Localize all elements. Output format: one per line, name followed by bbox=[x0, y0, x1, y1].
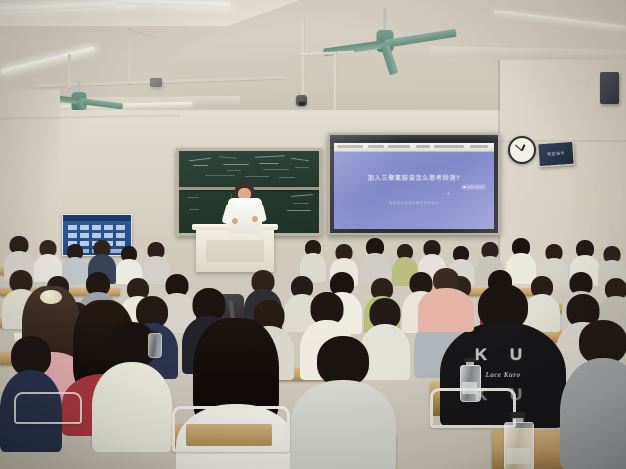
bottle-label-front bbox=[506, 448, 530, 464]
lecturer-hand-right bbox=[252, 216, 258, 222]
wall-clock bbox=[508, 136, 536, 164]
water-bottle-front bbox=[504, 412, 532, 469]
room-plaque-text: 教室编号 bbox=[547, 150, 565, 157]
slide-cursor-icon: + bbox=[446, 192, 450, 198]
water-bottle-far bbox=[148, 330, 160, 356]
student-grey-tee bbox=[290, 336, 396, 469]
screen-roller-bar bbox=[330, 135, 498, 142]
ceiling-camera-icon bbox=[296, 95, 307, 106]
app-toolbar bbox=[334, 143, 494, 152]
hair-scrunchie bbox=[40, 290, 62, 304]
podium-front-panel bbox=[206, 240, 264, 262]
lecturer-hand-left bbox=[232, 218, 238, 224]
student-right-pink bbox=[418, 268, 474, 328]
chair-frame-left bbox=[14, 392, 82, 424]
slide-surface: 加入三聚氰胺该怎么思考检测? 如何设计检测方案与实验验证 检测方案示例 + bbox=[334, 152, 494, 229]
slide-subtitle: 如何设计检测方案与实验验证 bbox=[389, 200, 440, 205]
slide-title: 加入三聚氰胺该怎么思考检测? bbox=[368, 173, 460, 182]
wall-speaker-left bbox=[150, 78, 162, 87]
ceiling-fan-center bbox=[310, 8, 460, 58]
slide-badge: 检测方案示例 bbox=[461, 184, 486, 190]
camera-mount-pole-2 bbox=[334, 52, 337, 114]
wall-speaker-right bbox=[600, 72, 619, 104]
student-far-5 bbox=[116, 246, 142, 282]
water-bottle-mid bbox=[460, 358, 479, 400]
projection-screen: 加入三聚氰胺该怎么思考检测? 如何设计检测方案与实验验证 检测方案示例 + bbox=[328, 133, 500, 235]
room-plaque: 教室编号 bbox=[537, 141, 575, 167]
classroom-photo-scene: 教室编号 bbox=[0, 0, 626, 469]
lecturer bbox=[222, 182, 268, 234]
slide-badge-dot bbox=[463, 186, 466, 189]
bottle-body-far bbox=[148, 333, 162, 358]
student-far-9 bbox=[360, 238, 390, 282]
conduit-pipe-drop-2 bbox=[128, 32, 131, 84]
slide-badge-text: 检测方案示例 bbox=[467, 185, 484, 189]
camera-mount-pole bbox=[302, 20, 305, 98]
notice-board-header bbox=[63, 215, 131, 221]
student-far-right-foreground bbox=[560, 320, 626, 469]
chair-back-center bbox=[186, 424, 272, 446]
bottle-label-mid bbox=[462, 382, 478, 394]
podium bbox=[196, 228, 274, 272]
